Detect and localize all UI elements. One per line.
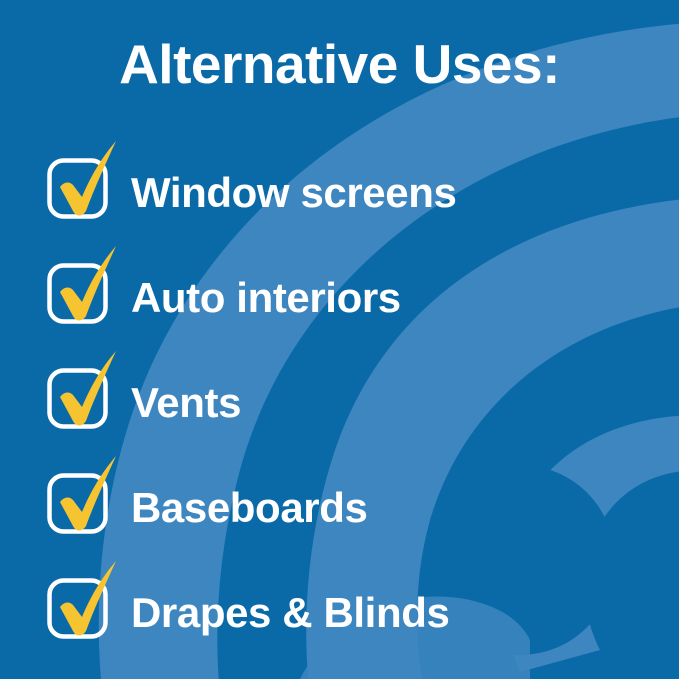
checkbox-check-icon [44,137,118,223]
list-item-label: Drapes & Blinds [131,592,449,634]
checkbox-check-icon [44,242,118,328]
list-item[interactable]: Drapes & Blinds [44,557,664,662]
alternative-uses-list: Window screens Auto interiors [44,137,664,662]
alternative-uses-poster: Alternative Uses: Window screens [0,0,679,679]
list-item-label: Baseboards [131,487,367,529]
checkbox-checked[interactable] [44,452,118,538]
poster-content: Alternative Uses: Window screens [0,0,679,679]
list-item[interactable]: Baseboards [44,452,664,557]
checkbox-check-icon [44,347,118,433]
list-item-label: Window screens [131,172,456,214]
page-title: Alternative Uses: [0,36,679,94]
checkbox-checked[interactable] [44,137,118,223]
list-item[interactable]: Vents [44,347,664,452]
list-item[interactable]: Window screens [44,137,664,242]
checkbox-check-icon [44,452,118,538]
checkbox-check-icon [44,557,118,643]
checkbox-checked[interactable] [44,242,118,328]
checkbox-checked[interactable] [44,347,118,433]
list-item-label: Vents [131,382,241,424]
list-item[interactable]: Auto interiors [44,242,664,347]
checkbox-checked[interactable] [44,557,118,643]
list-item-label: Auto interiors [131,277,401,319]
